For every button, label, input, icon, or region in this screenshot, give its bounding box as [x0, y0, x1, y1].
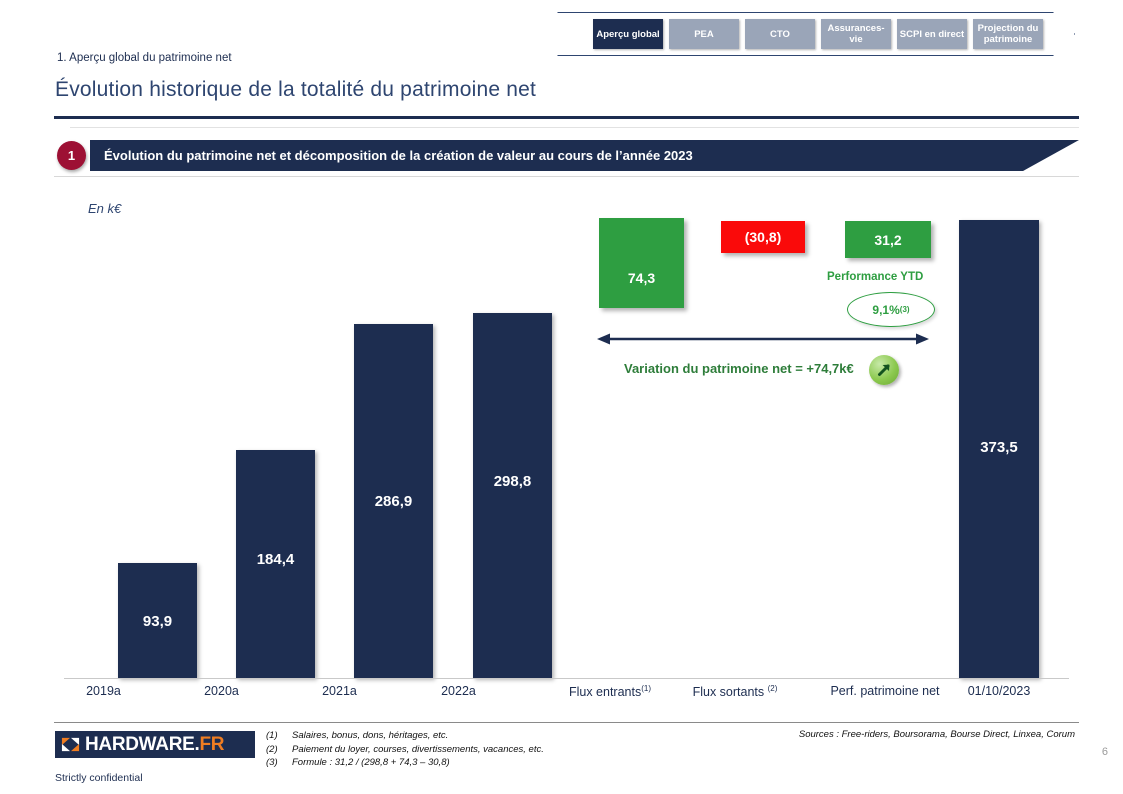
- section-banner-text: Évolution du patrimoine net et décomposi…: [90, 148, 693, 163]
- stage-nav-chevron: Aperçu global PEA CTO Assurances-vie SCP…: [557, 12, 1075, 56]
- waterfall-chart: 93,9 184,4 286,9 298,8 74,3 (30,8) 31,2 …: [54, 190, 1079, 690]
- nav-tab-pea[interactable]: PEA: [669, 19, 739, 49]
- nav-tab-list: Aperçu global PEA CTO Assurances-vie SCP…: [557, 12, 1075, 56]
- nav-tab-apercu-global[interactable]: Aperçu global: [593, 19, 663, 49]
- waterfall-box-perf-patrimoine-net: 31,2: [845, 221, 931, 258]
- bar-2019a: 93,9: [118, 563, 197, 678]
- axis-label-2022a: 2022a: [419, 684, 498, 698]
- axis-label-perf-patrimoine-net: Perf. patrimoine net: [805, 684, 965, 698]
- variation-label: Variation du patrimoine net = +74,7k€: [624, 361, 854, 376]
- bar-value-2019a: 93,9: [143, 613, 172, 630]
- nav-tab-scpi-en-direct[interactable]: SCPI en direct: [897, 19, 967, 49]
- bar-value-2021a: 286,9: [375, 493, 413, 510]
- sources-note: Sources : Free-riders, Boursorama, Bours…: [799, 729, 1075, 740]
- nav-tab-cto[interactable]: CTO: [745, 19, 815, 49]
- waterfall-value-perf-patrimoine-net: 31,2: [874, 232, 901, 248]
- logo-wordmark: HARDWARE.FR: [85, 735, 224, 754]
- footer-divider: [54, 722, 1079, 723]
- subtitle-divider: [70, 127, 1079, 128]
- bar-value-01-10-2023: 373,5: [980, 439, 1018, 456]
- bar-01-10-2023: 373,5: [959, 220, 1039, 678]
- performance-ytd-value: 9,1%: [872, 303, 899, 317]
- axis-label-2020a: 2020a: [182, 684, 261, 698]
- waterfall-box-flux-entrants: 74,3: [599, 218, 684, 308]
- axis-label-flux-sortants: Flux sortants (2): [660, 684, 810, 699]
- banner-divider: [54, 176, 1079, 177]
- footnote-item: (1)Salaires, bonus, dons, héritages, etc…: [266, 729, 544, 743]
- trend-up-arrow-icon: [869, 355, 899, 385]
- performance-ytd-label: Performance YTD: [827, 271, 923, 283]
- performance-ytd-badge: 9,1%(3): [847, 292, 935, 327]
- performance-ytd-footnote-marker: (3): [900, 305, 910, 314]
- footnote-item: (2)Paiement du loyer, courses, divertiss…: [266, 743, 544, 757]
- section-banner: Évolution du patrimoine net et décomposi…: [90, 140, 1079, 171]
- footnote-item: (3)Formule : 31,2 / (298,8 + 74,3 – 30,8…: [266, 756, 544, 770]
- axis-label-01-10-2023: 01/10/2023: [959, 684, 1039, 698]
- axis-label-2021a: 2021a: [300, 684, 379, 698]
- axis-label-2019a: 2019a: [64, 684, 143, 698]
- bar-value-2022a: 298,8: [494, 473, 532, 490]
- bar-2022a: 298,8: [473, 313, 552, 678]
- waterfall-value-flux-sortants: (30,8): [745, 229, 782, 245]
- section-kicker: 1. Aperçu global du patrimoine net: [57, 52, 232, 64]
- waterfall-value-flux-entrants: 74,3: [628, 270, 655, 286]
- section-number-badge: 1: [57, 141, 86, 170]
- confidentiality-notice: Strictly confidential: [55, 772, 143, 784]
- chart-axis-line: [64, 678, 1069, 679]
- bar-2021a: 286,9: [354, 324, 433, 678]
- bar-2020a: 184,4: [236, 450, 315, 678]
- footnote-list: (1)Salaires, bonus, dons, héritages, etc…: [266, 729, 544, 770]
- page-number: 6: [1102, 746, 1108, 758]
- nav-tab-assurances-vie[interactable]: Assurances-vie: [821, 19, 891, 49]
- bar-value-2020a: 184,4: [257, 551, 295, 568]
- hardware-fr-logo: HARDWARE.FR: [55, 731, 255, 758]
- variation-double-arrow-icon: [597, 332, 929, 346]
- nav-tab-projection-du-patrimoine[interactable]: Projection du patrimoine: [973, 19, 1043, 49]
- logo-mark-icon: [61, 735, 80, 754]
- page-title: Évolution historique de la totalité du p…: [55, 78, 536, 102]
- waterfall-box-flux-sortants: (30,8): [721, 221, 805, 253]
- title-divider: [54, 116, 1079, 119]
